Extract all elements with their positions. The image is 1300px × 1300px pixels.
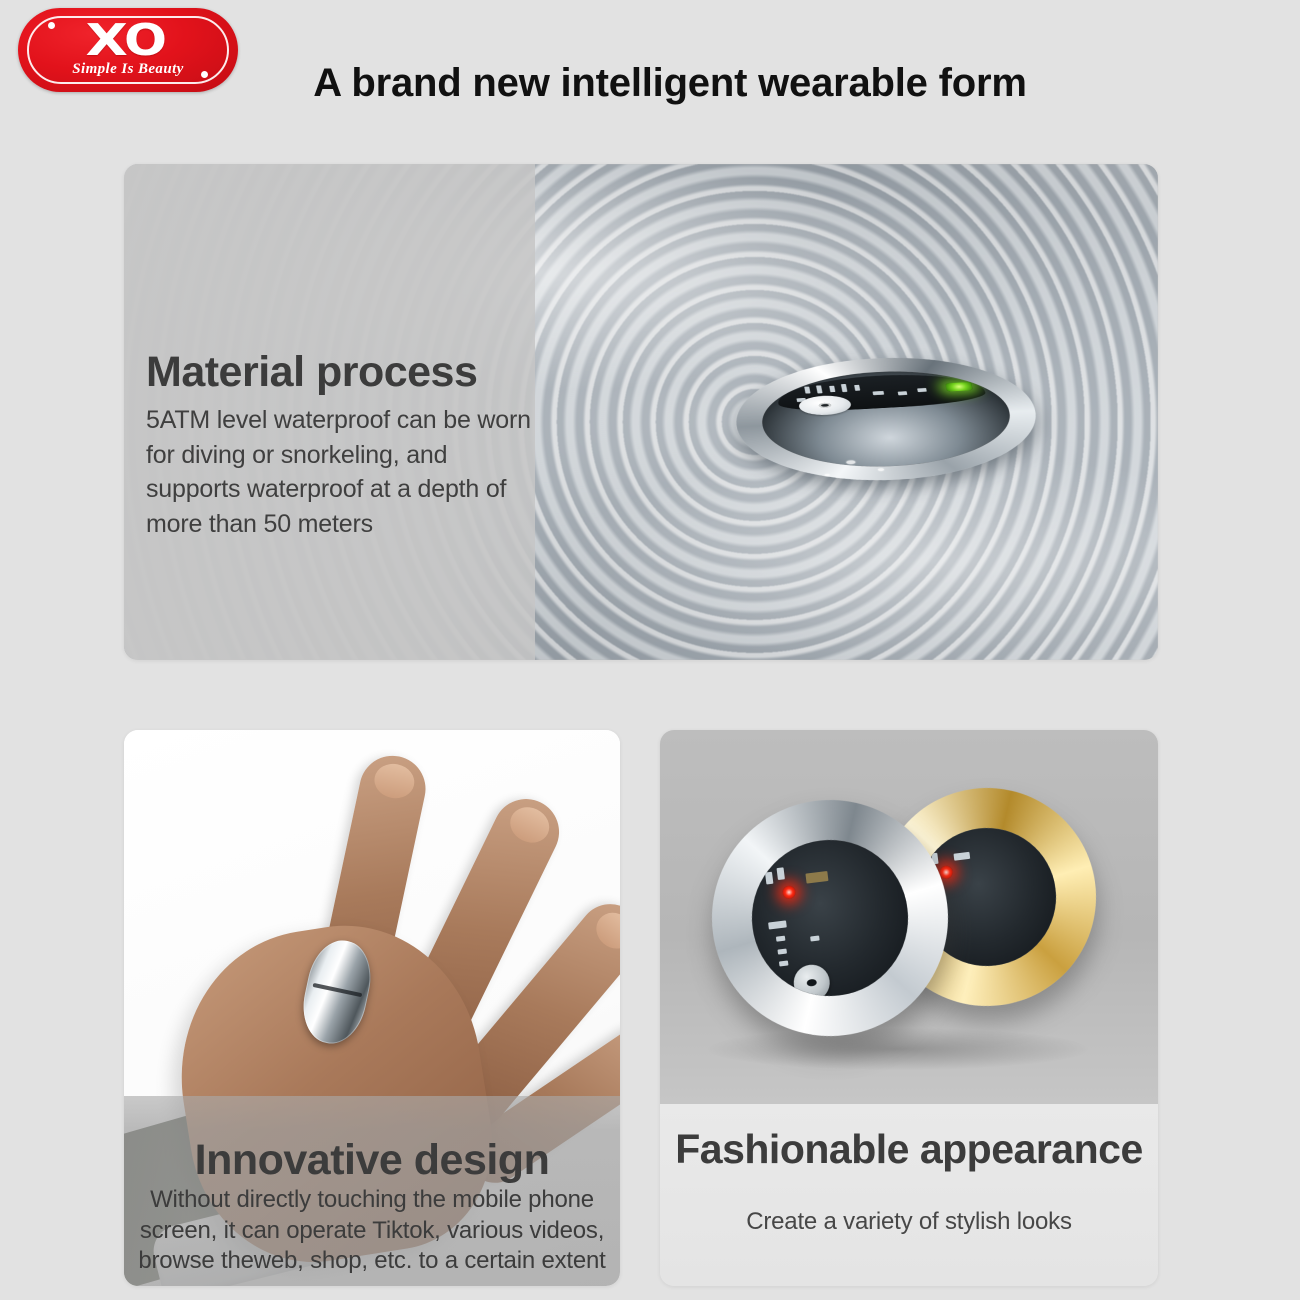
innovative-design-copy: Innovative design Without directly touch… xyxy=(124,1138,620,1276)
fashionable-appearance-copy: Fashionable appearance Create a variety … xyxy=(660,1104,1158,1286)
xo-brand-logo: XO Simple Is Beauty xyxy=(18,8,238,92)
fingernail xyxy=(589,905,620,956)
silver-smart-ring xyxy=(698,786,961,1049)
logo-letter-o: O xyxy=(124,19,169,63)
fashionable-appearance-body: Create a variety of stylish looks xyxy=(660,1205,1158,1238)
material-process-body: 5ATM level waterproof can be worn for di… xyxy=(146,403,546,541)
panel-fashionable-appearance: Fashionable appearance Create a variety … xyxy=(660,730,1158,1286)
logo-wordmark: XO xyxy=(18,19,238,63)
fingernail xyxy=(504,801,554,849)
green-led-indicator xyxy=(945,382,973,392)
fingernail xyxy=(371,760,417,801)
innovative-design-body: Without directly touching the mobile pho… xyxy=(134,1185,610,1276)
fashionable-appearance-title: Fashionable appearance xyxy=(660,1128,1158,1171)
panel-material-process: Material process 5ATM level waterproof c… xyxy=(124,164,1158,660)
twin-rings-photo xyxy=(660,730,1158,1104)
page-headline: A brand new intelligent wearable form xyxy=(240,55,1100,111)
logo-tagline: Simple Is Beauty xyxy=(18,61,238,78)
innovative-design-title: Innovative design xyxy=(134,1138,610,1183)
fingernail xyxy=(617,1031,620,1079)
red-led-indicator xyxy=(782,885,796,899)
material-process-title: Material process xyxy=(146,350,546,395)
material-process-copy: Material process 5ATM level waterproof c… xyxy=(146,350,546,541)
panel-innovative-design: Innovative design Without directly touch… xyxy=(124,730,620,1286)
smart-ring-in-water xyxy=(725,350,1047,488)
product-infographic: XO Simple Is Beauty A brand new intellig… xyxy=(0,0,1300,1300)
